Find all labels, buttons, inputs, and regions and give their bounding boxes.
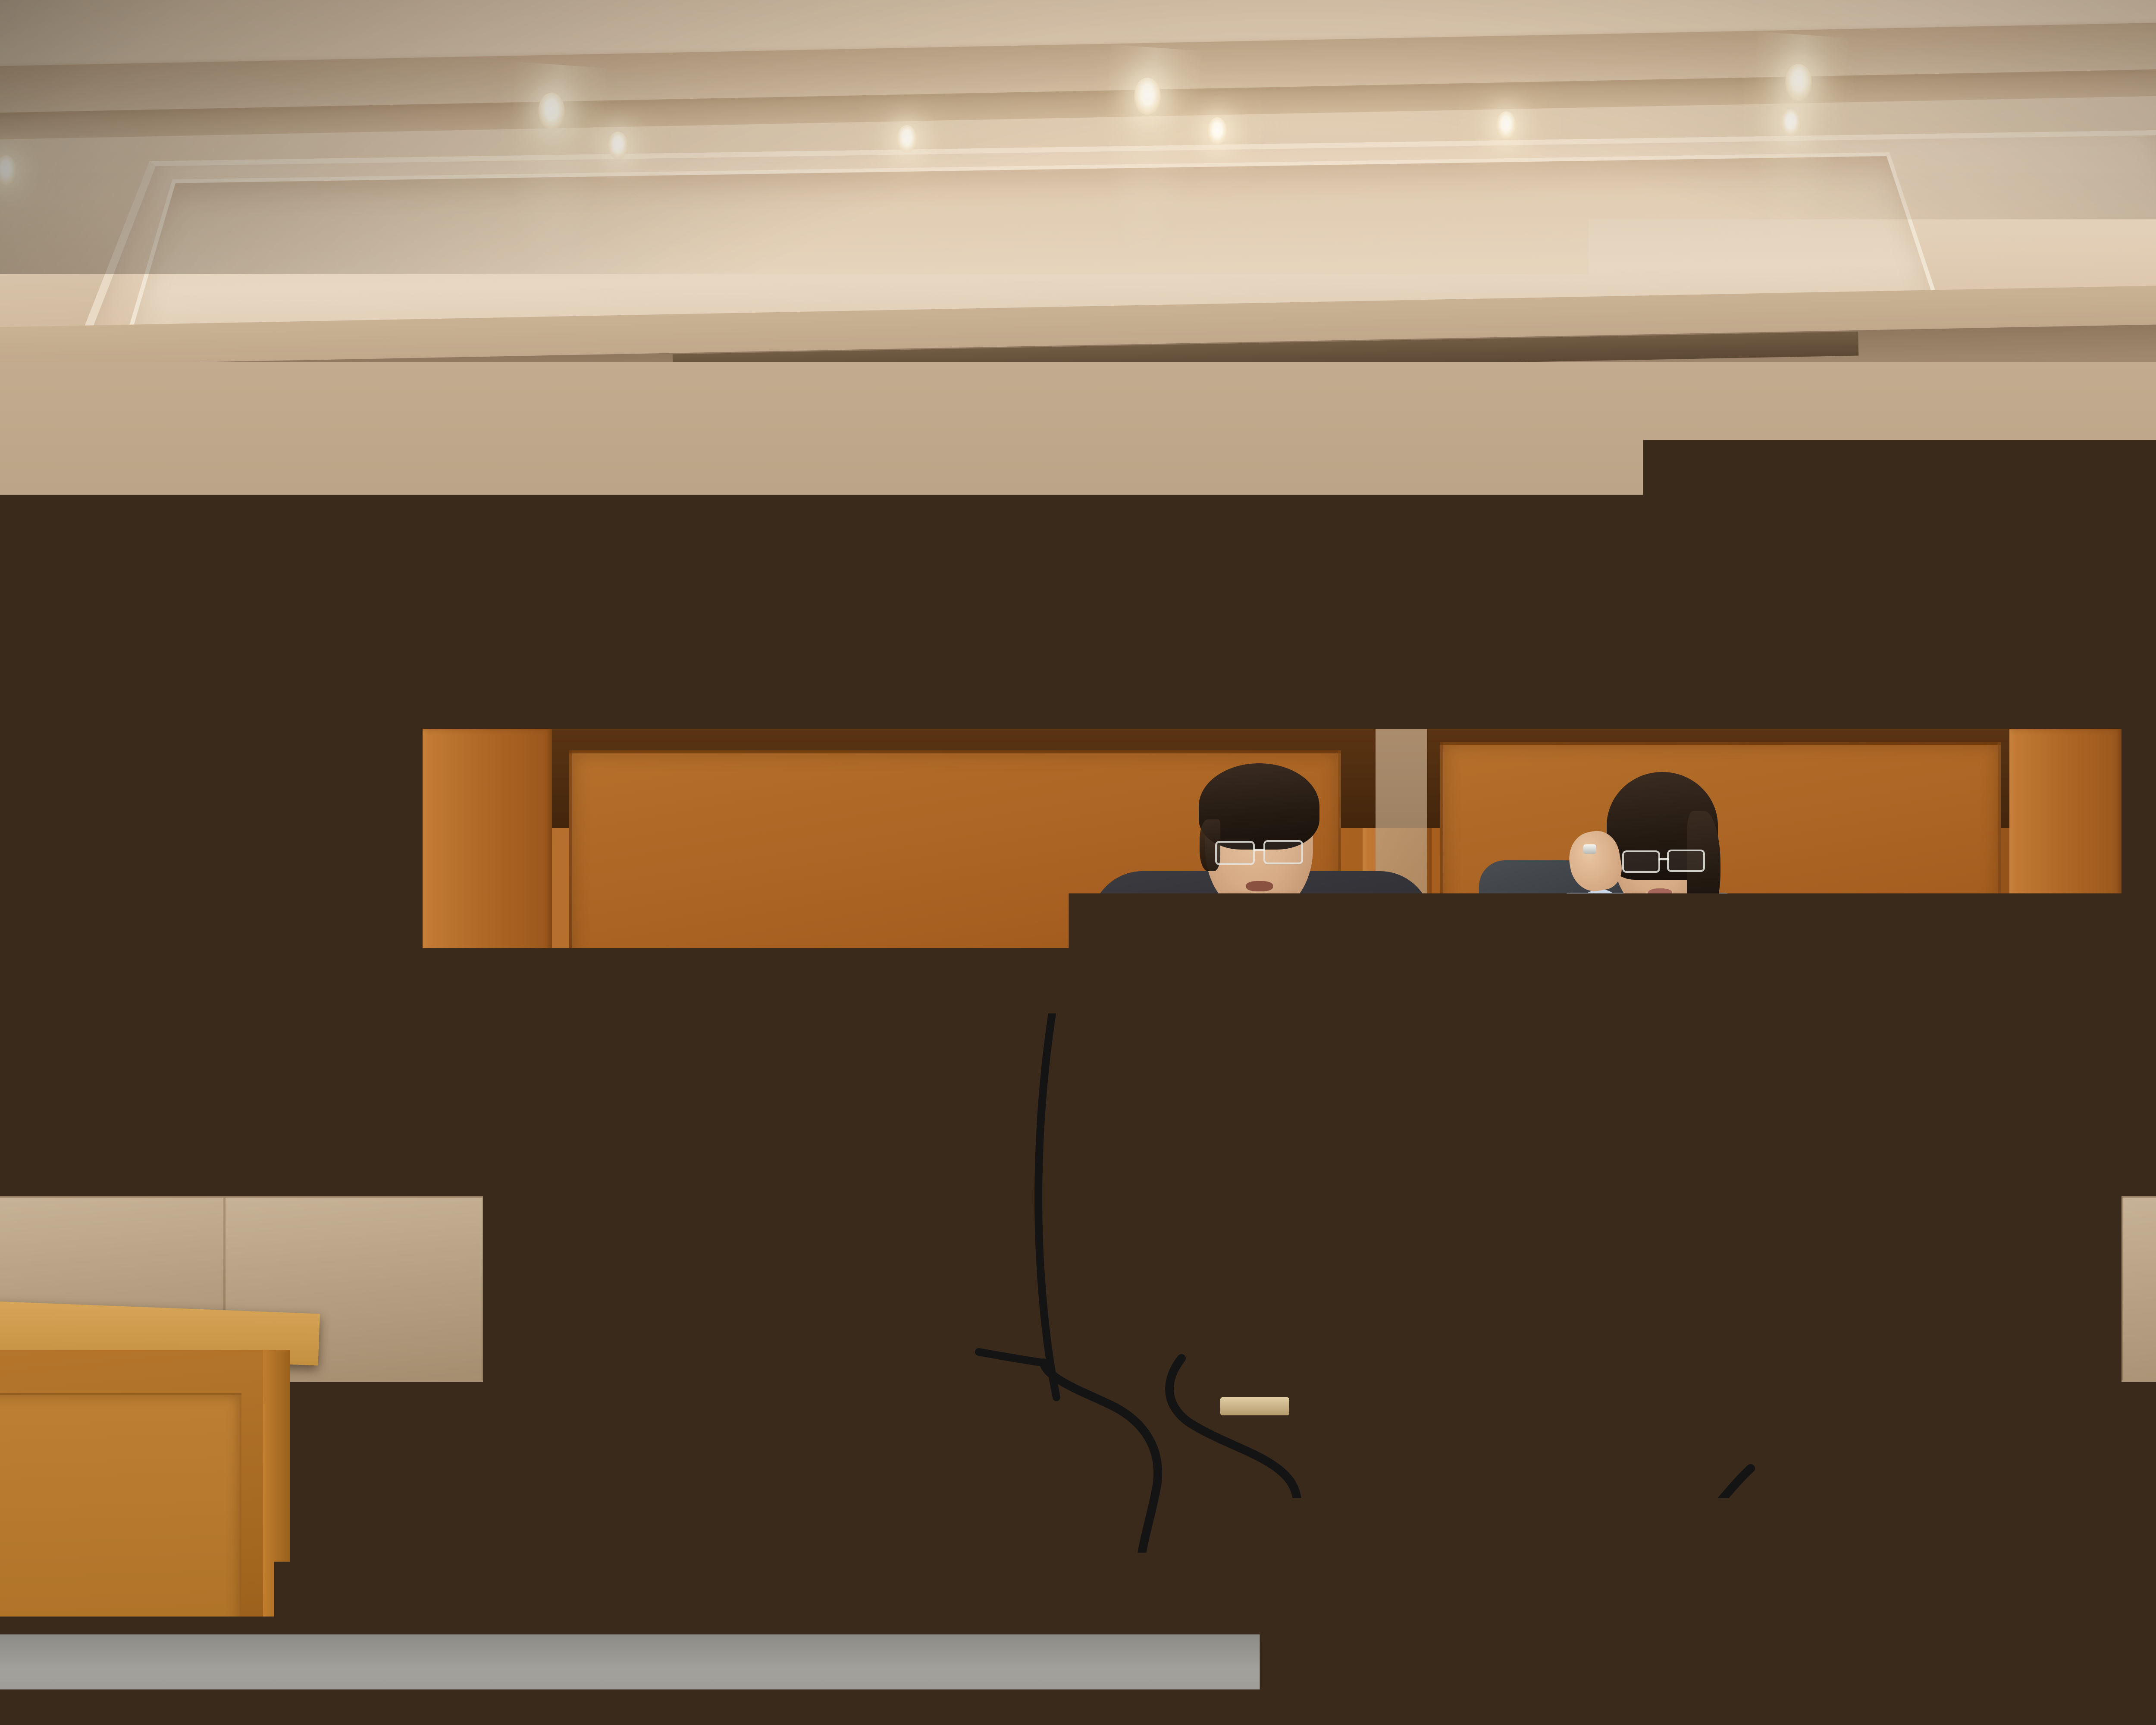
ceiling-light-2 [1134,78,1161,115]
banner-title-green: SF 소설과 철학적 사유 [1256,494,1920,607]
nameplate-org-micro: 한국외국어대학교 외국문학연구소 HK세미오시스연구사업단 [1578,943,1637,964]
banner-date-line: 일시: 2014년 5월 30일(금) [2116,481,2156,530]
ceiling-light-8 [1496,111,1516,139]
nameplate-university: 연세대학교 [1677,928,1719,940]
wall-panel-right-a [2122,724,2156,1182]
nameplate-card: 연세대학교 정 보 라 [1642,947,1754,989]
ceiling-light-10 [0,155,16,185]
nameplate-discussant[interactable]: 한국외국어대학교 외국문학연구소 HK세미오시스연구사업단 토론 인하대학교 조… [1160,947,1345,999]
discussant-glasses-right-lens [1263,840,1303,864]
nameplate-presenter[interactable]: 한국외국어대학교 외국문학연구소 HK세미오시스연구사업단 발표 연세대학교 정… [1574,941,1759,994]
presenter-ring [1583,844,1596,854]
nameplate-name: 조 성 면 [1228,945,1340,1013]
banner-title-area: 2014년 봄 학술대회 SF 소설과 철학적 사유 [492,364,2112,749]
banner-org-line-2: 외 국 문 학 연 구 소 [88,553,443,603]
nameplate-card: 인하대학교 조 성 면 [1228,952,1340,994]
nameplate-role-block: 한국외국어대학교 외국문학연구소 HK세미오시스연구사업단 토론 [1161,948,1226,998]
nameplate-university: 인하대학교 [1263,933,1305,945]
ceiling-light-3 [1785,64,1812,101]
nameplate-role: 토론 [1175,970,1212,997]
banner-left-panel: 한 국 외 국 어 대 학 교 외 국 문 학 연 구 소 HK세미오시스연구사… [61,406,470,747]
event-banner: 한 국 외 국 어 대 학 교 외 국 문 학 연 구 소 HK세미오시스연구사… [57,352,2156,756]
nameplate-name: 정 보 라 [1642,940,1754,1008]
ceiling-light-6 [897,125,917,153]
nameplate-org-micro: 한국외국어대학교 외국문학연구소 HK세미오시스연구사업단 [1164,948,1223,969]
presenter-glasses-right-lens [1667,850,1705,872]
ceiling-light-1 [538,93,565,130]
presenter-glasses-left-lens [1622,850,1660,873]
ceiling-light-5 [608,132,628,159]
nameplate-role: 발표 [1589,965,1626,992]
presenter-glasses-bridge [1658,858,1669,860]
ceiling-light-7 [1207,117,1227,145]
nameplate-role-block: 한국외국어대학교 외국문학연구소 HK세미오시스연구사업단 발표 [1575,943,1640,993]
banner-org-line-3: HK세미오시스연구사업단 [89,595,444,643]
foreground-desk-right-panel [1854,1358,2156,1548]
banner-right-panel: 일시: 2014년 5월 30일(금) 장소: 한국외대 교수회관 강연실 [2092,361,2156,703]
wood-pillar-left [423,729,552,1341]
banner-title-purple: 2014년 봄 학술대회 [684,511,1238,617]
banner-org-line-1: 한 국 외 국 어 대 학 교 [88,511,442,561]
wood-pillar-right [2009,729,2122,1341]
floor-power-outlet[interactable] [1220,1397,1289,1415]
discussant-mouth [1246,881,1273,891]
microphone-head [1210,914,1241,945]
left-understage-shadow [0,1665,207,1725]
microphone-cable-table-drop [1005,1013,1091,1402]
ceiling-light-9 [1781,109,1801,136]
wall-panel-left-a [0,724,224,1182]
banner-venue-line: 장소: 한국외대 교수회관 강연실 [2118,535,2156,583]
conference-photo-scene: 한국외국어대학교 외국문학연구소 HK세미오시스연구사업단 토론 인하대학교 조… [0,0,2156,1725]
discussant-glasses-left-lens [1215,841,1255,865]
foreground-desk-left-edge [263,1350,290,1725]
wall-trim-right [2122,1182,2156,1196]
discussant-glasses-bridge [1254,849,1265,851]
foreground-desk-right-underside [1811,1540,2156,1725]
presenter-mouth [1648,888,1672,898]
